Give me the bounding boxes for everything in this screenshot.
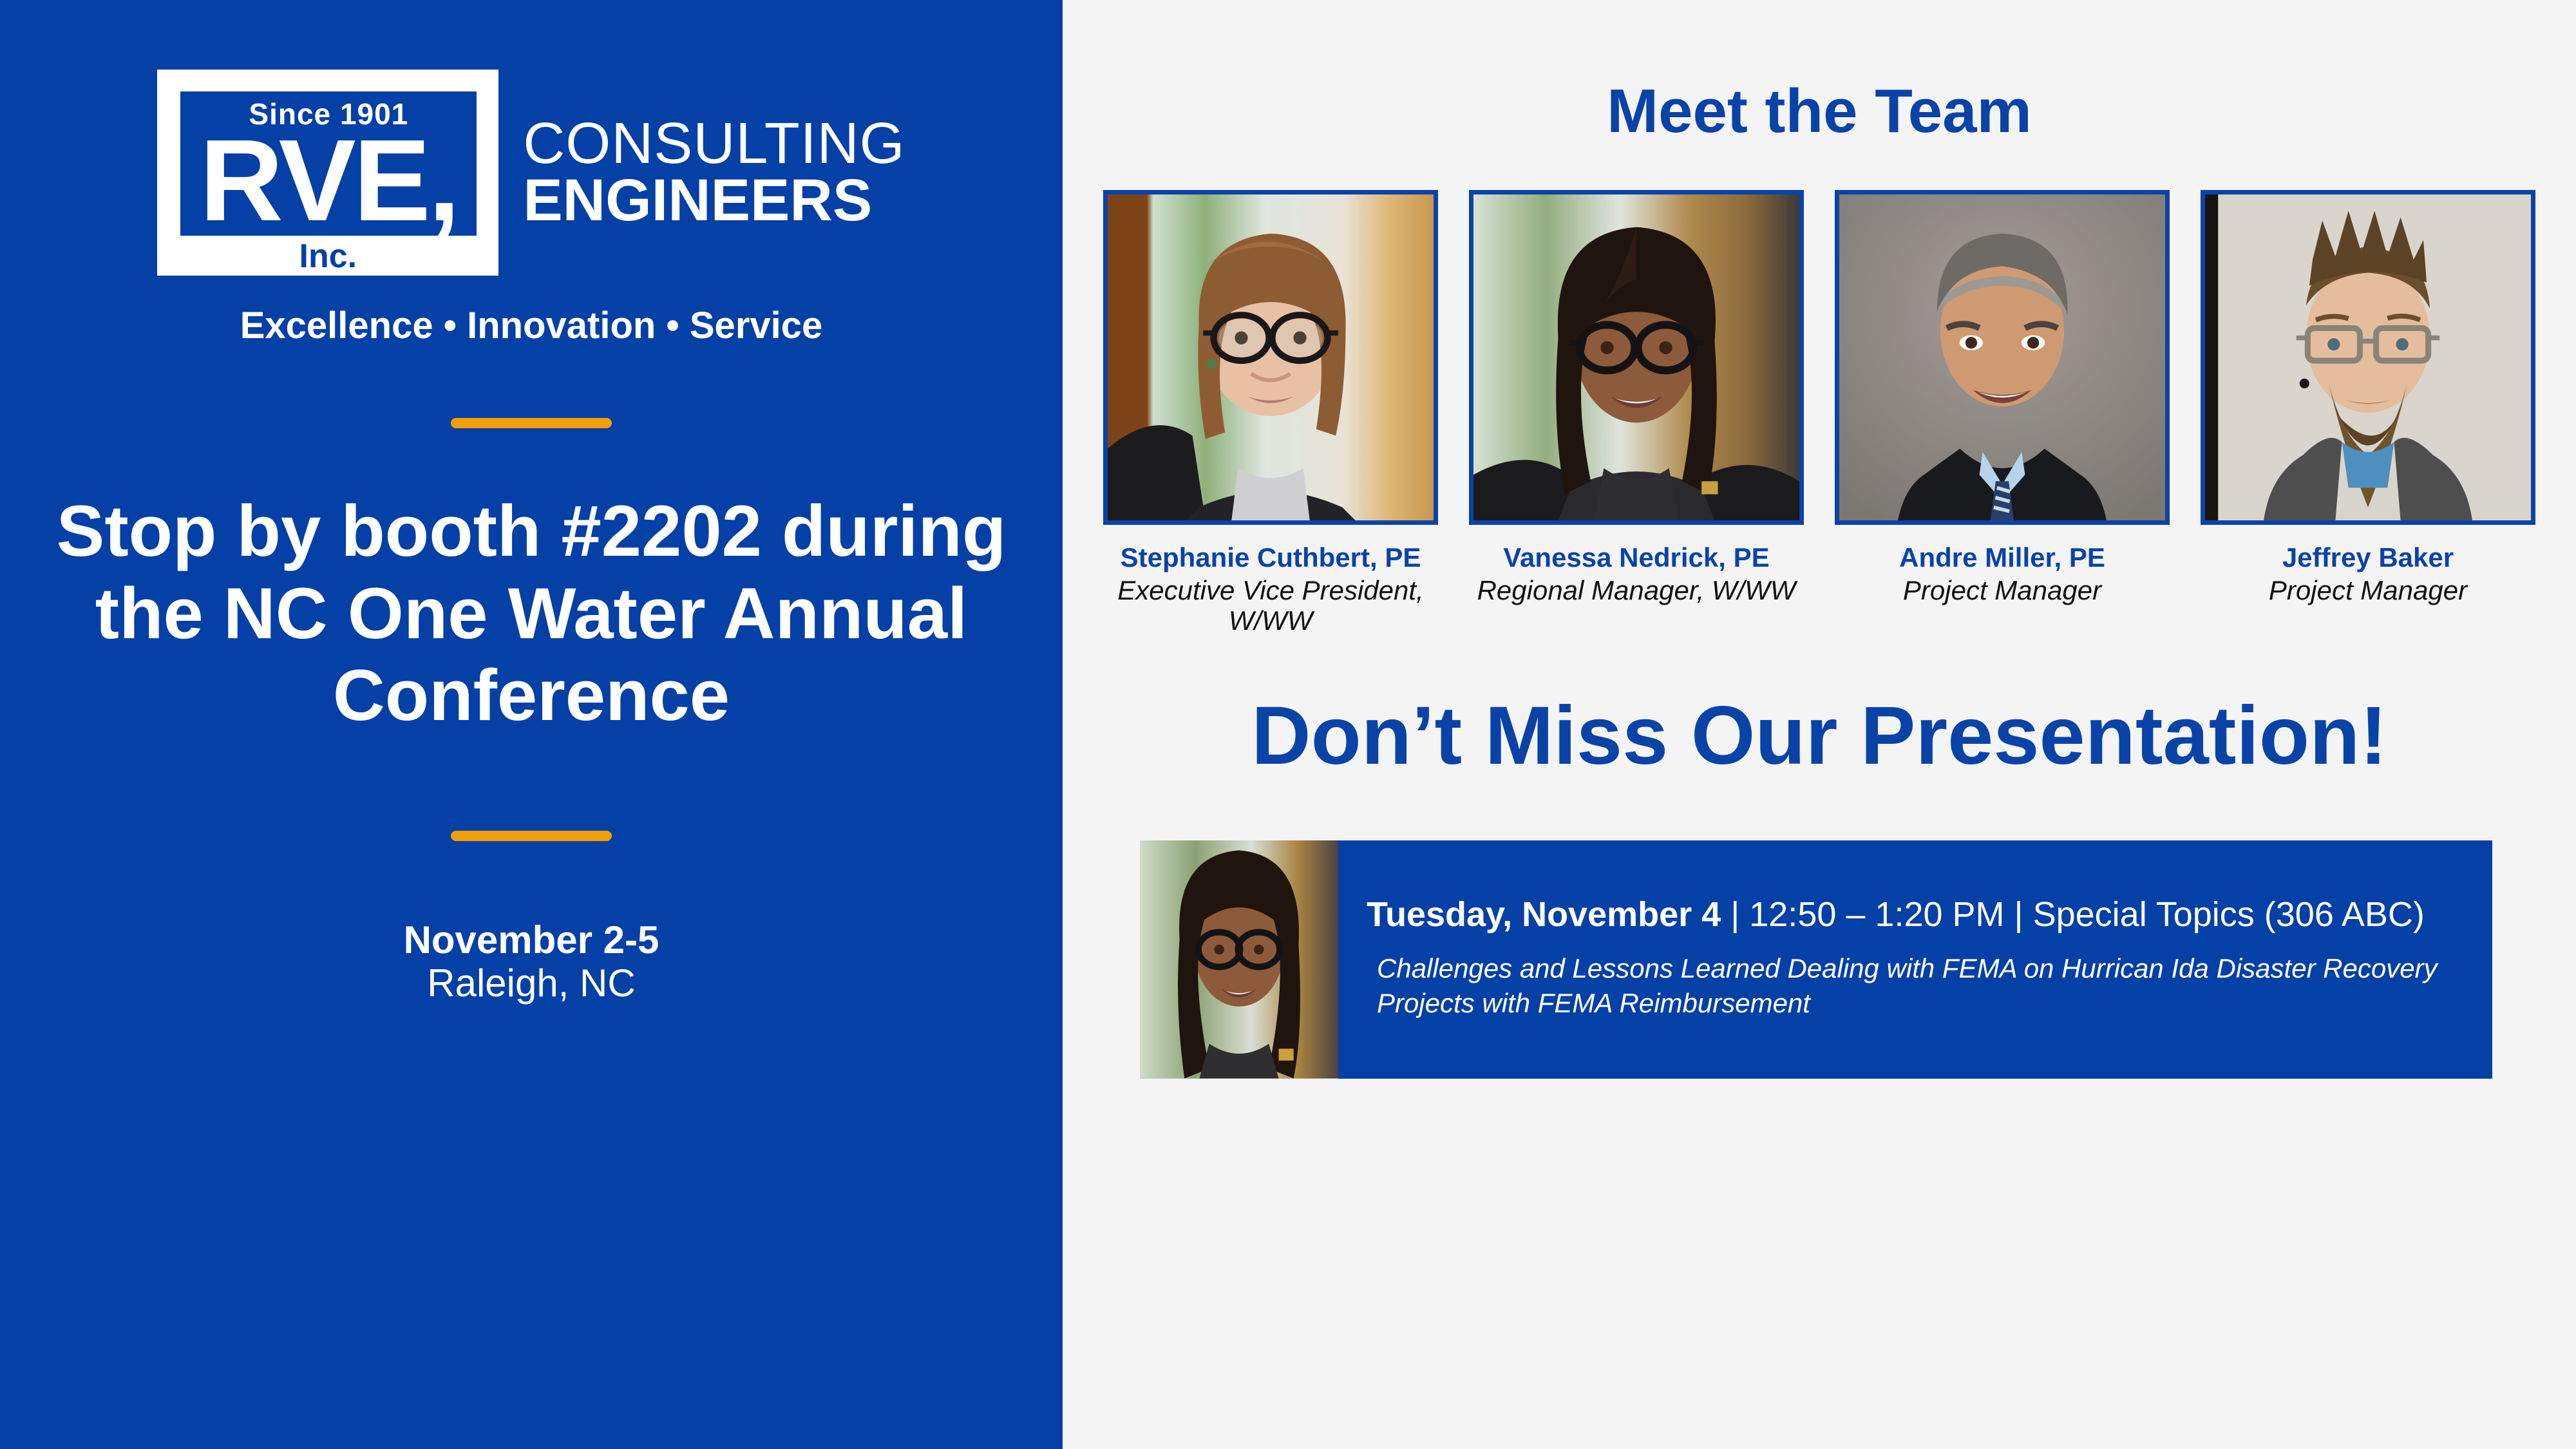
team-member-name: Andre Miller, PE [1835,543,2170,573]
team-member-card: Stephanie Cuthbert, PE Executive Vice Pr… [1103,190,1438,636]
session-day: Tuesday, November 4 [1367,895,1721,934]
team-member-title: Executive Vice President, W/WW [1103,575,1438,636]
session-headline: Tuesday, November 4 | 12:50 – 1:20 PM | … [1367,895,2465,935]
logo-monogram-text: RVE, [200,130,458,232]
team-member-name: Stephanie Cuthbert, PE [1103,543,1438,573]
divider-bar-bottom [451,831,612,841]
presentation-title: Don’t Miss Our Presentation! [1063,695,2576,777]
headshot-stephanie-cuthbert [1103,190,1438,525]
conference-city: Raleigh, NC [404,961,659,1005]
speaker-photo-vanessa-nedrick [1140,840,1338,1079]
logo-inner-box: Since 1901 RVE, [180,91,477,236]
session-separator-2: | [2005,895,2033,934]
team-member-title: Project Manager [1835,575,2170,605]
headshot-andre-miller [1835,190,2170,525]
rve-logo: Since 1901 RVE, Inc. CONSULTING ENGINEER… [0,70,1063,276]
team-member-card: Jeffrey Baker Project Manager [2201,190,2535,636]
right-content-panel: Meet the Team [1063,0,2576,1449]
conference-date-block: November 2-5 Raleigh, NC [404,918,659,1005]
session-separator-1: | [1721,895,1749,934]
session-description: Challenges and Lessons Learned Dealing w… [1367,951,2465,1021]
logo-mark: Since 1901 RVE, Inc. [157,70,498,276]
logo-wordmark: CONSULTING ENGINEERS [523,116,905,230]
session-details-box: Tuesday, November 4 | 12:50 – 1:20 PM | … [1338,840,2492,1079]
team-member-title: Project Manager [2201,575,2535,605]
logo-wordmark-engineers: ENGINEERS [523,172,905,229]
session-track: Special Topics (306 ABC) [2033,895,2425,934]
booth-headline: Stop by booth #2202 during the NC One Wa… [48,490,1014,737]
team-member-name: Vanessa Nedrick, PE [1469,543,1804,573]
conference-dates: November 2-5 [404,918,659,961]
team-member-list: Stephanie Cuthbert, PE Executive Vice Pr… [1063,190,2576,636]
meet-the-team-title: Meet the Team [1063,80,2576,142]
company-tagline: Excellence • Innovation • Service [240,304,823,347]
logo-inc-text: Inc. [157,240,498,273]
headshot-jeffrey-baker [2201,190,2535,525]
session-time: 12:50 – 1:20 PM [1749,895,2004,934]
divider-bar-top [451,418,612,428]
team-member-card: Vanessa Nedrick, PE Regional Manager, W/… [1469,190,1804,636]
team-member-card: Andre Miller, PE Project Manager [1835,190,2170,636]
logo-wordmark-consulting: CONSULTING [523,116,905,172]
left-promo-panel: Since 1901 RVE, Inc. CONSULTING ENGINEER… [0,0,1063,1449]
team-member-title: Regional Manager, W/WW [1469,575,1804,605]
team-member-name: Jeffrey Baker [2201,543,2535,573]
headshot-vanessa-nedrick [1469,190,1804,525]
session-banner: Tuesday, November 4 | 12:50 – 1:20 PM | … [1140,840,2492,1079]
